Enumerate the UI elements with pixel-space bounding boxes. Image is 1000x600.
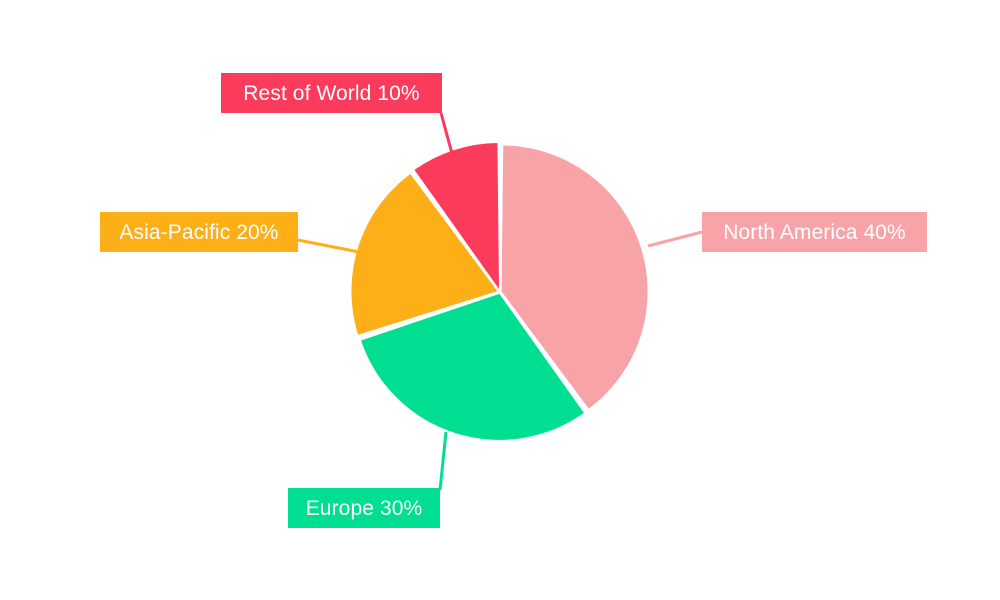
data-label-text: Europe 30% xyxy=(306,498,423,519)
pie-chart-canvas xyxy=(0,0,1000,600)
pie-chart-figure: North America 40%Europe 30%Asia-Pacific … xyxy=(0,0,1000,600)
data-label-text: North America 40% xyxy=(723,222,906,243)
data-label-north-america[interactable]: North America 40% xyxy=(702,212,927,252)
data-label-text: Rest of World 10% xyxy=(243,83,419,104)
data-label-asia-pacific[interactable]: Asia-Pacific 20% xyxy=(100,212,298,252)
data-label-europe[interactable]: Europe 30% xyxy=(288,488,440,528)
data-label-text: Asia-Pacific 20% xyxy=(119,222,278,243)
data-label-rest-of-world[interactable]: Rest of World 10% xyxy=(221,73,442,113)
pie-slice-group xyxy=(351,143,647,440)
leader-line-europe xyxy=(440,432,446,490)
leader-line-asia-pacific xyxy=(298,240,359,252)
leader-line-north-america xyxy=(648,232,702,246)
